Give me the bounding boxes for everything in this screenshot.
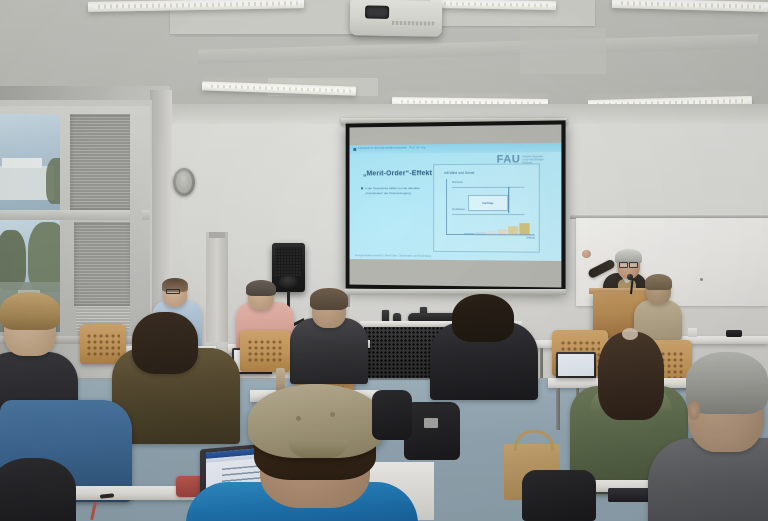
student-grey-ear [688,400,700,420]
desk-leg [540,348,543,378]
cap-strap [288,440,348,458]
window-blind-upper[interactable] [70,114,134,210]
student-tan-sweater-hair [645,274,672,290]
chart-y-label-mid: Grenzkosten [452,209,465,211]
microphone [627,274,633,280]
student-foreground-left-head [0,458,76,521]
cap-eyelet [330,412,335,417]
projection-screen-bottom-bar [344,289,566,295]
chart-title: mit Wind und Sonne [444,171,474,175]
slide-header-text: Lehrstuhl für Energieverfahrenstechnik ·… [358,146,426,150]
chart-bar [519,223,530,234]
slide-header-bar: Lehrstuhl für Energieverfahrenstechnik ·… [350,143,562,154]
presentation-slide: Lehrstuhl für Energieverfahrenstechnik ·… [350,143,562,261]
chart-bar [508,226,518,234]
window-mullion-horizontal [0,210,150,220]
window-pane-upper-left [0,114,64,214]
wall-pillar [206,232,228,342]
wall-clock [173,168,195,196]
slide-header-marker [353,148,356,151]
projector [350,0,443,37]
presenter-glasses [619,262,638,266]
chart-gridline [452,214,524,215]
projection-screen-surface: Lehrstuhl für Energieverfahrenstechnik ·… [350,124,562,287]
chart-demand-label: Nachfrage [482,201,493,204]
window-post [130,108,142,338]
window-mullion-vertical [60,108,70,338]
backpack-logo [424,418,438,428]
slide-title: „Merit-Order“-Effekt [363,170,432,177]
window-blind-lower[interactable] [74,222,132,306]
pillar-cap [209,232,225,238]
chart-gridline [452,187,524,188]
student-olive-jacket-hair [598,332,664,420]
chart-bar [497,229,507,234]
laptop[interactable] [556,352,596,378]
backpack [372,390,412,440]
student-brown-jacket-hair [132,312,198,374]
slide-chart-container: mit Wind und Sonne Strompreis Grenzkoste… [433,163,540,252]
backpack [522,470,596,521]
student-blonde-hair [0,292,60,330]
phone-on-desk [726,330,742,337]
slide-bullet-text: In der Strombörse zählen nur die aktuell… [365,186,421,195]
chair[interactable] [240,330,290,372]
ceiling-light [612,0,768,12]
chart-bar [486,231,496,234]
chart-x-label: Leistung [526,237,535,239]
glasses [166,289,180,294]
chart-demand-line [508,187,509,213]
ceiling-beam [198,34,758,64]
cap-eyelet [296,416,301,421]
student-dark-jacket-2-hair [452,294,514,342]
student-dark-jacket-hair [310,288,348,310]
slide-footer: Energieverfahrenstechnik | Merit-Order |… [355,255,431,258]
lecture-hall-photo: Lehrstuhl für Energieverfahrenstechnik ·… [0,0,768,521]
projection-screen: Lehrstuhl für Energieverfahrenstechnik ·… [346,120,566,291]
chart-y-axis [446,179,447,235]
wall-socket [700,278,703,281]
ceiling-seam [175,34,377,37]
chart-y-label-top: Strompreis [452,182,463,184]
chart-bar [464,233,474,234]
pa-speaker [272,243,305,292]
student-pink-shirt-hair [246,280,276,296]
hair-tie [622,328,638,340]
bullet-label: In der Strombörse zählen nur die aktuell… [365,186,420,195]
chart-merit-order-blocks [464,223,531,234]
paper-cup [688,328,697,337]
chart-demand-annotation: Nachfrage [468,195,508,211]
ceiling-panel [520,28,606,74]
chart-bar [475,232,485,234]
desk-leg [556,388,560,430]
bullet-marker [361,187,362,188]
presenter-hand [582,250,591,258]
backpack [404,402,460,460]
